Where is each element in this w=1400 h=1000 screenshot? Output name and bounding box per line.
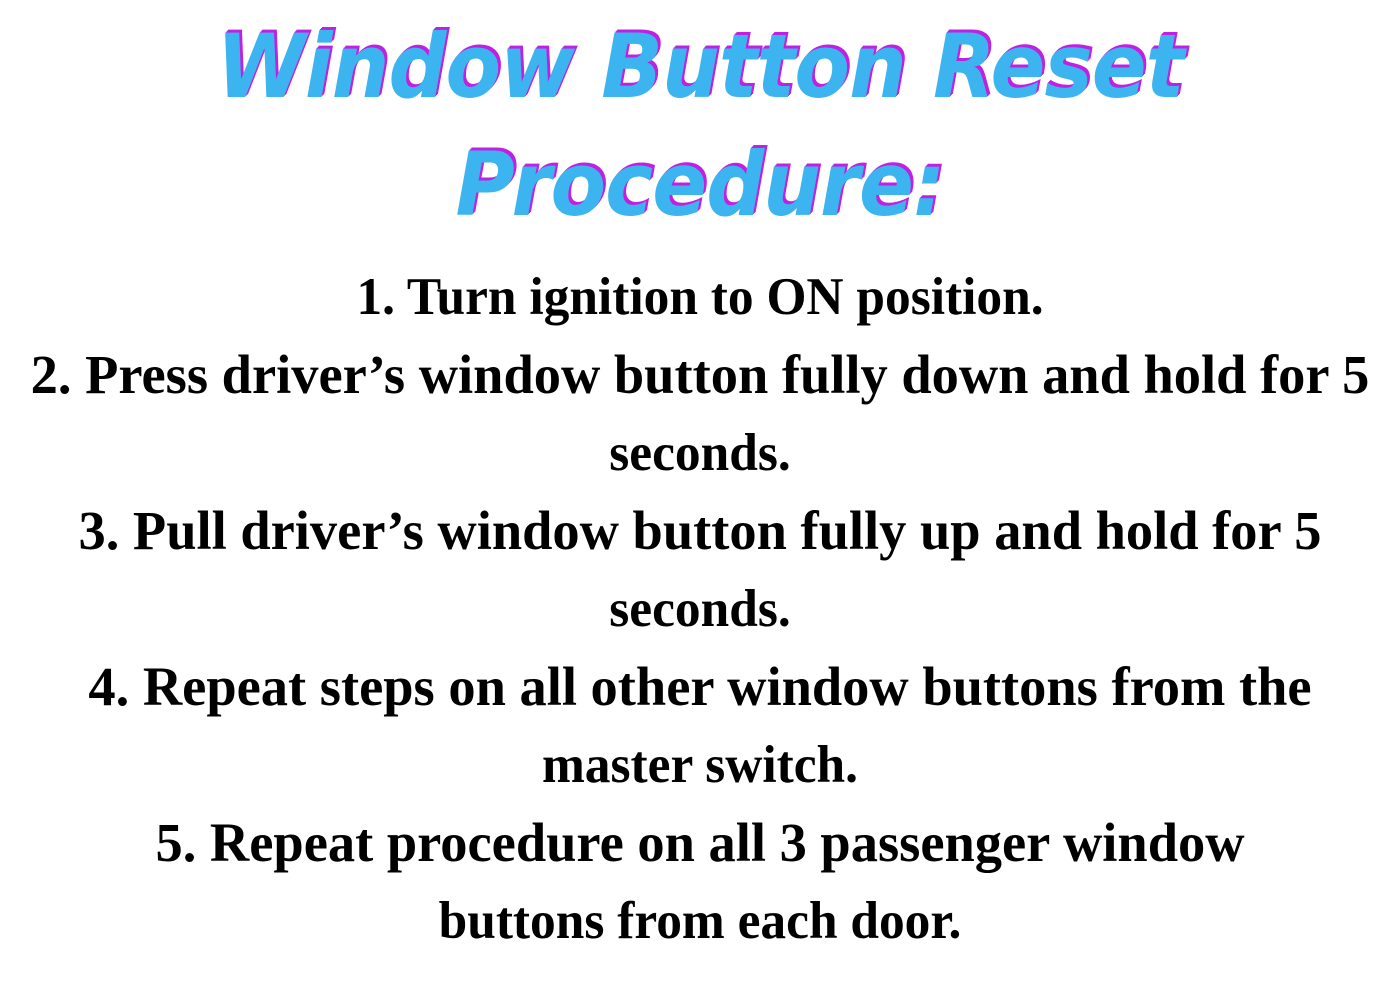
procedure-steps-list: 1. Turn ignition to ON position. 2. Pres… (0, 258, 1400, 960)
step-line-continuation: master switch. (21, 726, 1379, 804)
title-line-1: Window Button Reset (56, 8, 1344, 126)
title-line-2: Procedure: (56, 126, 1344, 244)
step-line: 4. Repeat steps on all other window butt… (7, 648, 1393, 726)
poster-title: Window Button Reset Procedure: (0, 8, 1400, 244)
step-line-continuation: seconds. (21, 414, 1379, 492)
step-line: 1. Turn ignition to ON position. (21, 258, 1379, 336)
step-line: 5. Repeat procedure on all 3 passenger w… (7, 804, 1393, 882)
step-line: 3. Pull driver’s window button fully up … (7, 492, 1393, 570)
step-line: 2. Press driver’s window button fully do… (7, 336, 1393, 414)
step-line-continuation: buttons from each door. (21, 882, 1379, 960)
poster-canvas: Window Button Reset Procedure: 1. Turn i… (0, 0, 1400, 1000)
step-line-continuation: seconds. (21, 570, 1379, 648)
